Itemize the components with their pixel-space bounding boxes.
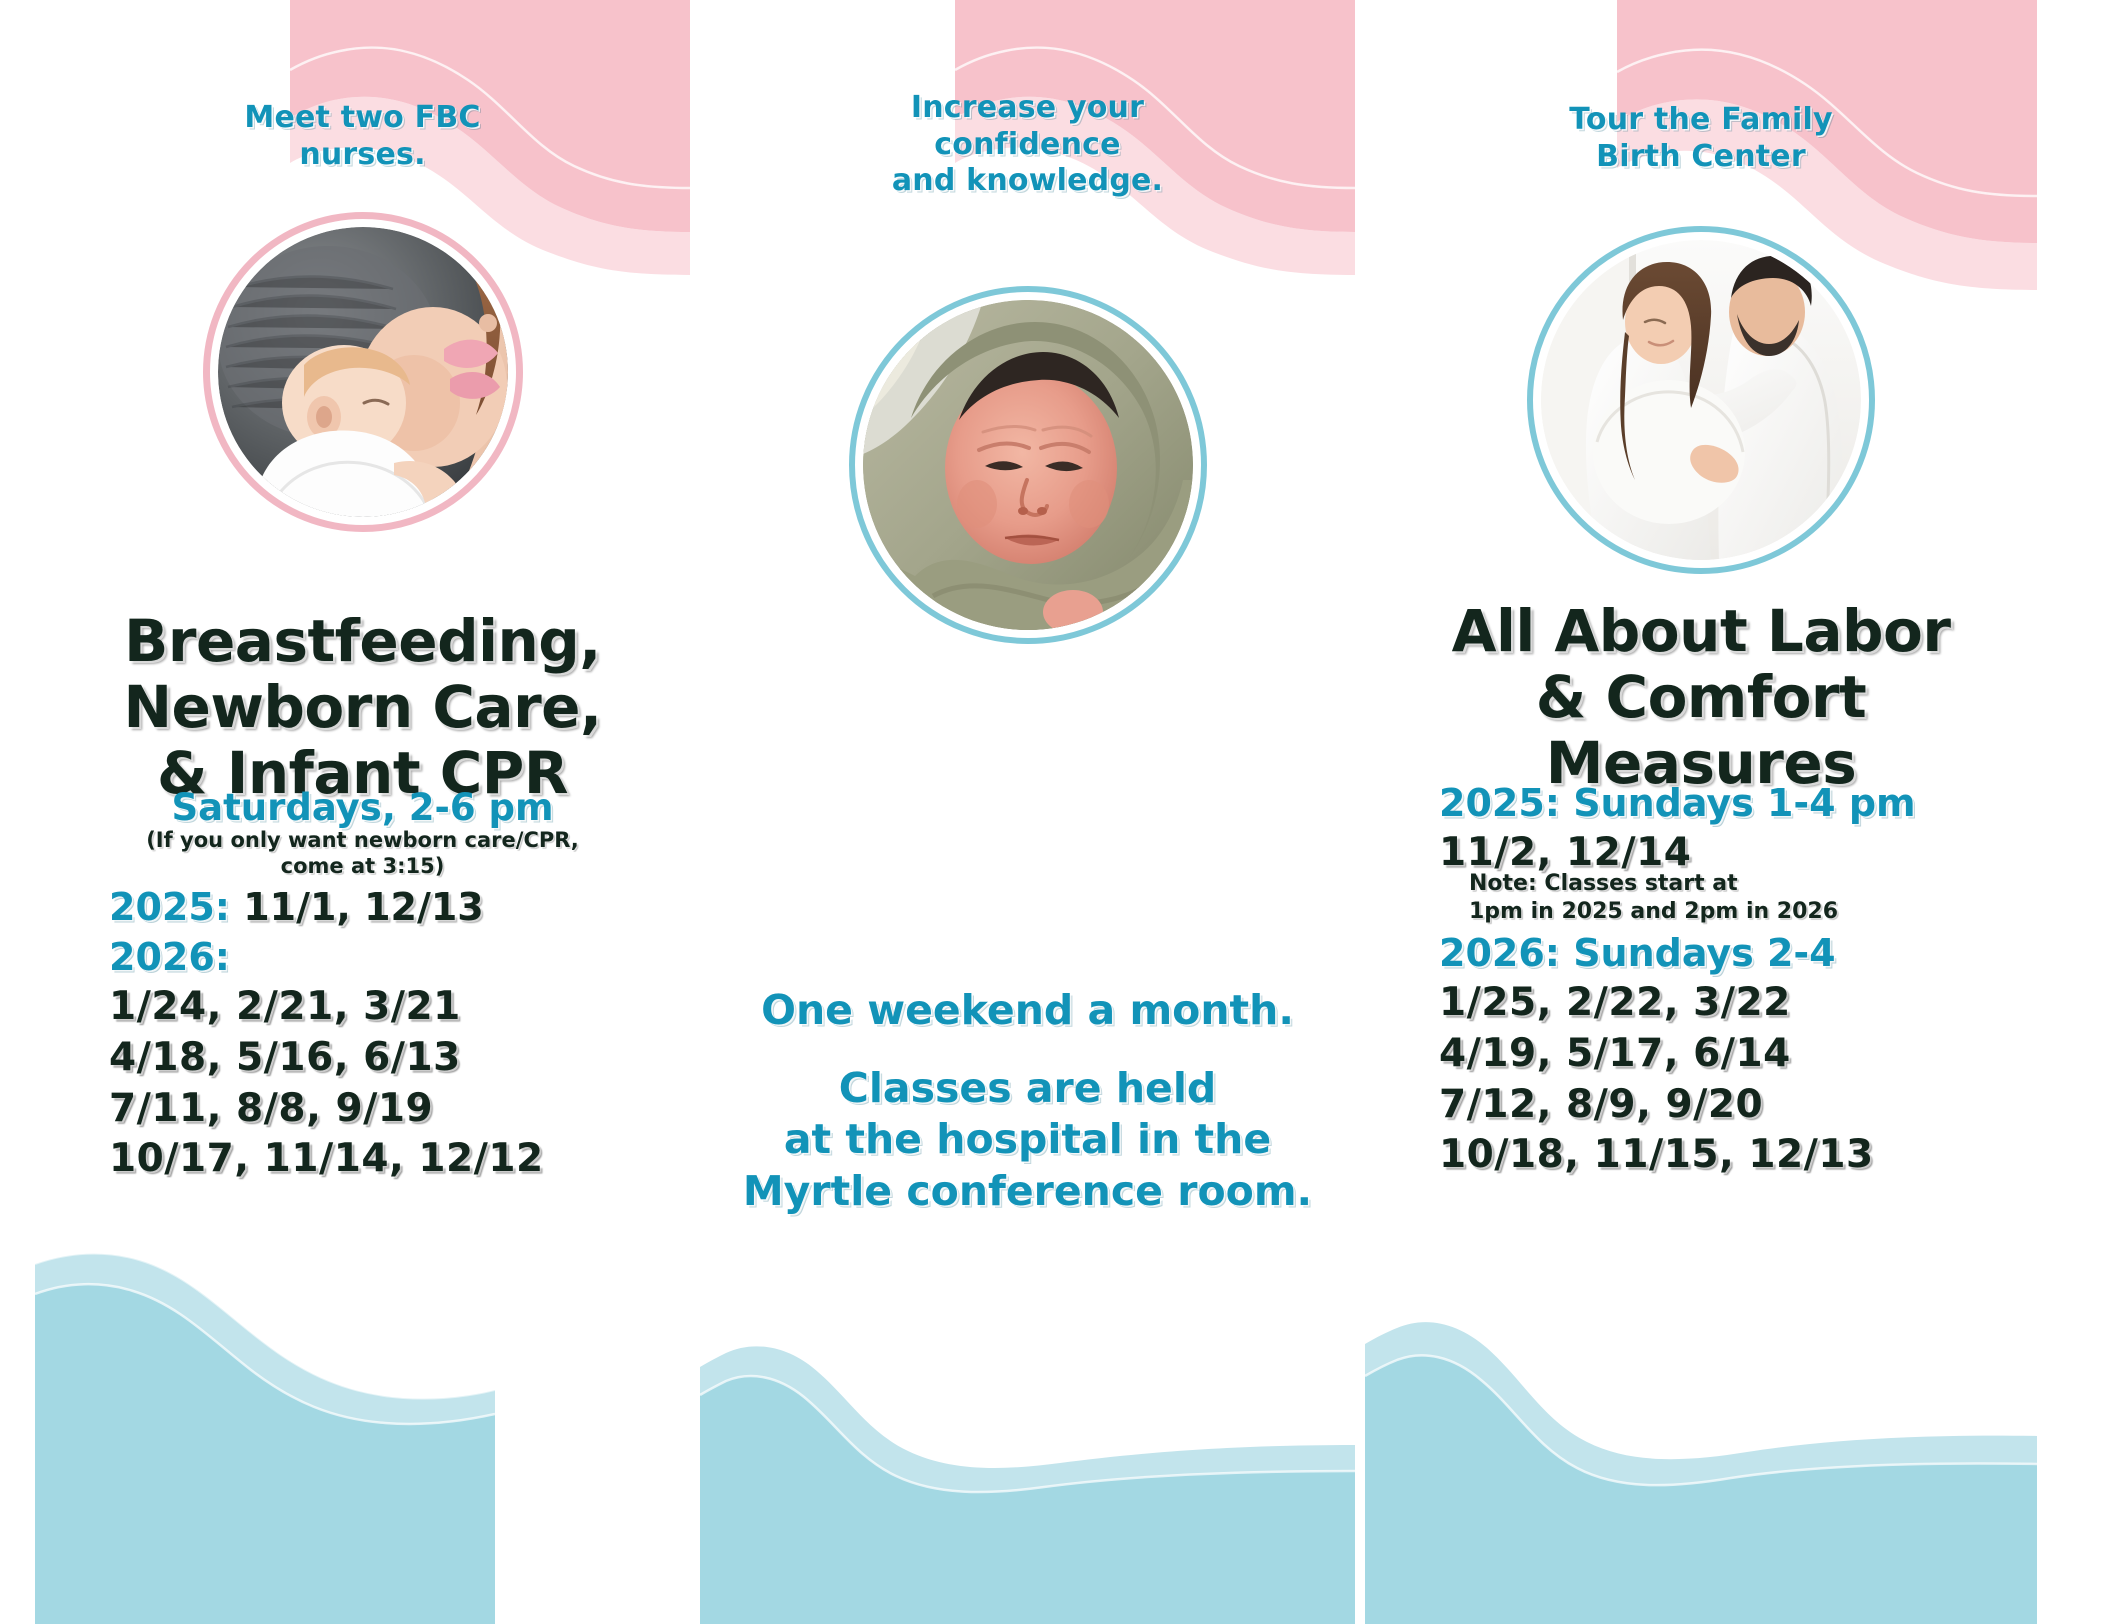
schedule-row-2025: 2025: 11/1, 12/13: [109, 882, 690, 932]
panel-subtitle-1: Saturdays, 2-6 pm: [35, 786, 690, 830]
date-row: 4/18, 5/16, 6/13: [109, 1033, 690, 1084]
blue-wave-decoration-bottom: [1365, 1224, 2037, 1624]
panel-title-3: All About Labor & Comfort Measures: [1365, 598, 2037, 796]
date-row: 4/19, 5/17, 6/14: [1439, 1029, 2037, 1080]
year-label-2025: 2025:: [109, 885, 230, 929]
date-row: 10/17, 11/14, 12/12: [109, 1134, 690, 1185]
body-spacer: [700, 1037, 1355, 1063]
panel-kicker-2: Increase your confidence and knowledge.: [700, 90, 1355, 200]
panel-title-1: Breastfeeding, Newborn Care, & Infant CP…: [35, 608, 690, 806]
subtitle-2025: 2025: Sundays 1-4 pm: [1439, 778, 2037, 828]
panel-kicker-3: Tour the Family Birth Center: [1365, 102, 2037, 175]
schedule-row-2026: 2026:: [109, 932, 690, 982]
class-start-note: Note: Classes start at 1pm in 2025 and 2…: [1469, 870, 2037, 925]
subtitle-2026: 2026: Sundays 2-4: [1439, 928, 2037, 978]
body-line: at the hospital in the: [700, 1114, 1355, 1166]
panel-kicker-1: Meet two FBC nurses.: [35, 100, 690, 173]
date-row: 1/24, 2/21, 3/21: [109, 982, 690, 1033]
body-line: Myrtle conference room.: [700, 1166, 1355, 1218]
body-line: Classes are held: [700, 1063, 1355, 1115]
date-row: 10/18, 11/15, 12/13: [1439, 1130, 2037, 1181]
year-label-2026: 2026:: [109, 935, 230, 979]
date-row: 7/12, 8/9, 9/20: [1439, 1080, 2037, 1131]
panel-breastfeeding: Meet two FBC nurses.: [35, 0, 690, 1624]
year-dates-2025: 11/1, 12/13: [243, 885, 484, 929]
expecting-couple-photo: [1527, 226, 1875, 574]
date-row: 1/25, 2/22, 3/22: [1439, 978, 2037, 1029]
blue-wave-decoration-bottom: [35, 1164, 495, 1624]
panel-labor: Tour the Family Birth Center: [1365, 0, 2037, 1624]
brochure-page: Meet two FBC nurses.: [0, 0, 2101, 1624]
blue-wave-decoration-bottom: [700, 1249, 1355, 1624]
breastfeeding-mother-and-baby-photo: [203, 212, 523, 532]
body-line: One weekend a month.: [700, 985, 1355, 1037]
panel-fineprint-1: (If you only want newborn care/CPR, come…: [35, 828, 690, 879]
panel-childbirth: Increase your confidence and knowledge.: [700, 0, 1355, 1624]
newborn-in-towel-photo: [849, 286, 1207, 644]
date-row: 7/11, 8/8, 9/19: [109, 1084, 690, 1135]
